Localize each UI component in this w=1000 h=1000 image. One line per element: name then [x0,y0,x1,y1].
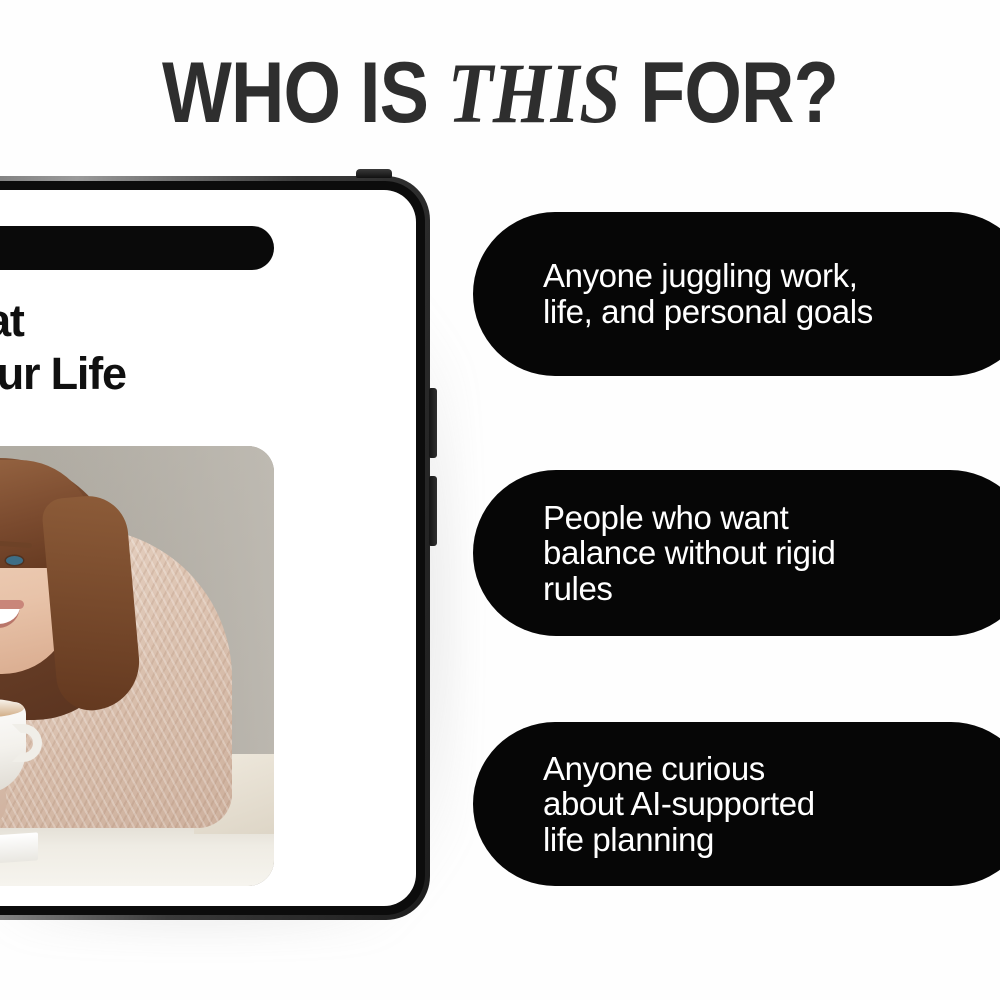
page-title: WHO IS THIS FOR? [70,48,930,138]
device-bezel: Balance That ually Fits Your Life [0,181,425,915]
page-title-part2: FOR? [620,45,838,141]
slide-canvas: WHO IS THIS FOR? Balance That ually Fits… [0,0,1000,1000]
audience-pill-2[interactable]: People who want balance without rigid ru… [473,470,1000,636]
screen-headline: Balance That ually Fits Your Life [0,294,298,401]
screen-headline-line2: Fits Your Life [0,348,126,399]
tablet-device-mockup: Balance That ually Fits Your Life [0,176,430,920]
volume-down-button-icon[interactable] [429,476,437,546]
screen-headline-line1: Balance That [0,295,24,346]
audience-pill-1[interactable]: Anyone juggling work, life, and personal… [473,212,1000,376]
audience-pill-3[interactable]: Anyone curious about AI-supported life p… [473,722,1000,886]
audience-pill-2-label: People who want balance without rigid ru… [473,500,861,607]
device-screen: Balance That ually Fits Your Life [0,190,416,906]
power-button-icon[interactable] [356,169,392,178]
audience-pill-1-label: Anyone juggling work, life, and personal… [473,258,899,329]
screen-photo [0,446,274,886]
photo-eye-right [6,556,23,565]
page-title-emphasis: THIS [448,45,621,141]
volume-up-button-icon[interactable] [429,388,437,458]
audience-pill-3-label: Anyone curious about AI-supported life p… [473,751,841,858]
photo-upper-lip [0,600,24,609]
screen-topbar [0,226,274,270]
page-title-part1: WHO IS [162,45,448,141]
